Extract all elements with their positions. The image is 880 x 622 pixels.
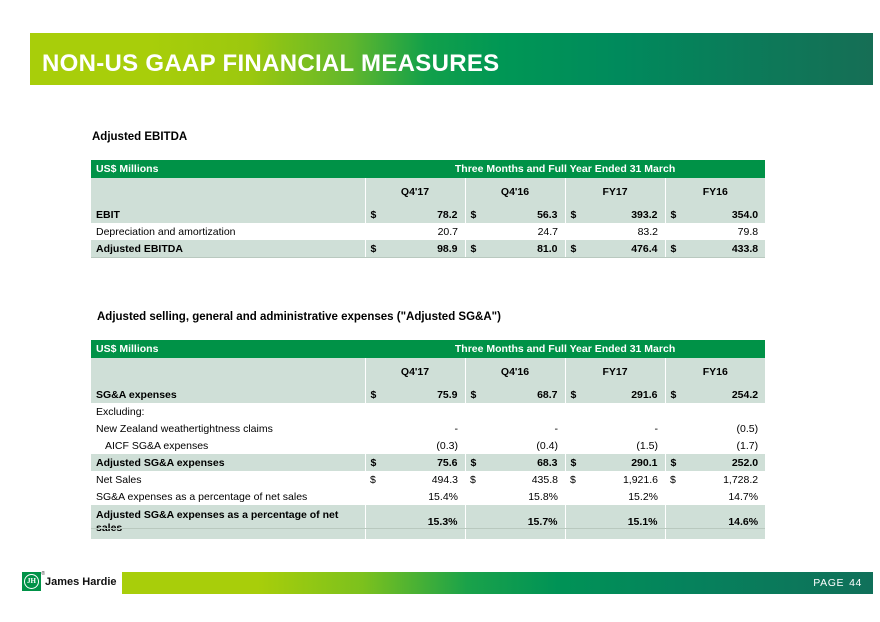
row-label: AICF SG&A expenses bbox=[91, 437, 365, 454]
row-value: - bbox=[591, 420, 665, 437]
row-currency: $ bbox=[465, 240, 491, 257]
brand-logo: JH ® James Hardie bbox=[22, 572, 117, 591]
row-value: 81.0 bbox=[491, 240, 565, 257]
row-value: 15.4% bbox=[391, 488, 465, 505]
row-value: 56.3 bbox=[491, 206, 565, 223]
table-row: Adjusted SG&A expenses $ 75.6 $ 68.3 $ 2… bbox=[91, 454, 765, 471]
row-value: 20.7 bbox=[391, 223, 465, 240]
row-value: 14.6% bbox=[665, 505, 765, 539]
row-label: SG&A expenses bbox=[91, 386, 365, 403]
page-title: NON-US GAAP FINANCIAL MEASURES bbox=[42, 50, 499, 78]
table-row: Depreciation and amortization 20.7 24.7 … bbox=[91, 223, 765, 240]
column-header-fy17: FY17 bbox=[565, 358, 665, 386]
row-currency bbox=[465, 403, 491, 420]
row-value: 15.2% bbox=[591, 488, 665, 505]
row-value bbox=[591, 403, 665, 420]
row-value: - bbox=[491, 420, 565, 437]
table-row: Adjusted SG&A expenses as a percentage o… bbox=[91, 505, 765, 539]
row-currency: $ bbox=[565, 454, 591, 471]
table-header-periods: Q4'17 Q4'16 FY17 FY16 bbox=[91, 178, 765, 206]
row-currency: $ bbox=[365, 240, 391, 257]
table-row: AICF SG&A expenses (0.3) (0.4) (1.5) (1.… bbox=[91, 437, 765, 454]
row-value: 68.3 bbox=[491, 454, 565, 471]
row-value: 433.8 bbox=[691, 240, 765, 257]
row-currency: $ bbox=[465, 471, 491, 488]
row-label: New Zealand weathertightness claims bbox=[91, 420, 365, 437]
column-header-q417: Q4'17 bbox=[365, 358, 465, 386]
logo-monogram: JH bbox=[24, 574, 39, 589]
row-currency bbox=[465, 223, 491, 240]
row-value: 1,728.2 bbox=[691, 471, 765, 488]
row-value: 68.7 bbox=[491, 386, 565, 403]
table-header-periods: Q4'17 Q4'16 FY17 FY16 bbox=[91, 358, 765, 386]
row-currency: $ bbox=[465, 386, 491, 403]
row-label: EBIT bbox=[91, 206, 365, 223]
row-currency: $ bbox=[665, 206, 691, 223]
row-label: Adjusted EBITDA bbox=[91, 240, 365, 257]
row-currency bbox=[665, 420, 691, 437]
row-value: - bbox=[391, 420, 465, 437]
row-value: 15.8% bbox=[491, 488, 565, 505]
footer-bar bbox=[122, 572, 873, 594]
row-value: 75.9 bbox=[391, 386, 465, 403]
column-header-q416: Q4'16 bbox=[465, 178, 565, 206]
row-label: Depreciation and amortization bbox=[91, 223, 365, 240]
header-period-title: Three Months and Full Year Ended 31 Marc… bbox=[365, 340, 765, 358]
row-currency: $ bbox=[365, 454, 391, 471]
row-currency bbox=[465, 420, 491, 437]
column-header-q417: Q4'17 bbox=[365, 178, 465, 206]
header-units: US$ Millions bbox=[91, 340, 365, 358]
row-currency bbox=[365, 223, 391, 240]
row-value: (0.5) bbox=[691, 420, 765, 437]
header-units: US$ Millions bbox=[91, 160, 365, 178]
row-value: 14.7% bbox=[691, 488, 765, 505]
row-currency: $ bbox=[565, 206, 591, 223]
row-currency bbox=[365, 437, 391, 454]
row-value: 78.2 bbox=[391, 206, 465, 223]
row-value: 393.2 bbox=[591, 206, 665, 223]
row-currency: $ bbox=[365, 471, 391, 488]
table-bottom-rule bbox=[91, 257, 765, 258]
row-currency: $ bbox=[465, 206, 491, 223]
row-currency bbox=[365, 403, 391, 420]
section-caption-ebitda: Adjusted EBITDA bbox=[92, 131, 187, 143]
row-value: 476.4 bbox=[591, 240, 665, 257]
row-value: 15.7% bbox=[465, 505, 565, 539]
column-header-fy16: FY16 bbox=[665, 358, 765, 386]
row-currency: $ bbox=[665, 240, 691, 257]
row-currency bbox=[665, 223, 691, 240]
table-header-band: US$ Millions Three Months and Full Year … bbox=[91, 160, 765, 178]
row-value: 354.0 bbox=[691, 206, 765, 223]
row-value: 75.6 bbox=[391, 454, 465, 471]
page-number: 44 bbox=[849, 577, 862, 589]
row-value: 15.3% bbox=[365, 505, 465, 539]
row-currency bbox=[565, 223, 591, 240]
row-currency bbox=[465, 437, 491, 454]
row-value bbox=[491, 403, 565, 420]
row-currency bbox=[465, 488, 491, 505]
row-value: 1,921.6 bbox=[591, 471, 665, 488]
header-spacer bbox=[91, 358, 365, 386]
row-currency bbox=[565, 437, 591, 454]
row-currency bbox=[565, 488, 591, 505]
row-value: (0.3) bbox=[391, 437, 465, 454]
row-value bbox=[391, 403, 465, 420]
row-currency: $ bbox=[365, 386, 391, 403]
table-row: EBIT $ 78.2 $ 56.3 $ 393.2 $ 354.0 bbox=[91, 206, 765, 223]
row-currency bbox=[565, 403, 591, 420]
brand-name: James Hardie bbox=[45, 576, 117, 588]
row-value bbox=[691, 403, 765, 420]
row-label: Adjusted SG&A expenses as a percentage o… bbox=[91, 505, 365, 539]
table-adjusted-sga: US$ Millions Three Months and Full Year … bbox=[91, 340, 765, 539]
table-row: Adjusted EBITDA $ 98.9 $ 81.0 $ 476.4 $ … bbox=[91, 240, 765, 257]
row-value: 252.0 bbox=[691, 454, 765, 471]
row-currency bbox=[665, 403, 691, 420]
row-currency bbox=[565, 420, 591, 437]
row-label: SG&A expenses as a percentage of net sal… bbox=[91, 488, 365, 505]
table-adjusted-ebitda: US$ Millions Three Months and Full Year … bbox=[91, 160, 765, 257]
row-label: Adjusted SG&A expenses bbox=[91, 454, 365, 471]
row-currency: $ bbox=[665, 471, 691, 488]
table-row: Net Sales $ 494.3 $ 435.8 $ 1,921.6 $ 1,… bbox=[91, 471, 765, 488]
row-value: 290.1 bbox=[591, 454, 665, 471]
row-value: 291.6 bbox=[591, 386, 665, 403]
row-currency: $ bbox=[665, 454, 691, 471]
row-currency: $ bbox=[465, 454, 491, 471]
row-value: 83.2 bbox=[591, 223, 665, 240]
row-value: (1.5) bbox=[591, 437, 665, 454]
column-header-q416: Q4'16 bbox=[465, 358, 565, 386]
row-value: 494.3 bbox=[391, 471, 465, 488]
table-row: SG&A expenses $ 75.9 $ 68.7 $ 291.6 $ 25… bbox=[91, 386, 765, 403]
row-currency bbox=[665, 488, 691, 505]
row-currency: $ bbox=[665, 386, 691, 403]
row-value: 254.2 bbox=[691, 386, 765, 403]
table-row: SG&A expenses as a percentage of net sal… bbox=[91, 488, 765, 505]
row-value: (0.4) bbox=[491, 437, 565, 454]
column-header-fy16: FY16 bbox=[665, 178, 765, 206]
james-hardie-logo-icon: JH ® bbox=[22, 572, 41, 591]
registered-trademark-icon: ® bbox=[41, 571, 45, 577]
row-currency bbox=[665, 437, 691, 454]
row-currency bbox=[365, 488, 391, 505]
section-caption-sga: Adjusted selling, general and administra… bbox=[97, 311, 501, 323]
row-currency: $ bbox=[565, 386, 591, 403]
row-currency: $ bbox=[565, 240, 591, 257]
row-currency: $ bbox=[565, 471, 591, 488]
page-number-label: PAGE44 bbox=[813, 577, 862, 589]
header-period-title: Three Months and Full Year Ended 31 Marc… bbox=[365, 160, 765, 178]
table-row: Excluding: bbox=[91, 403, 765, 420]
row-currency: $ bbox=[365, 206, 391, 223]
page-word: PAGE bbox=[813, 577, 844, 589]
table-bottom-rule bbox=[91, 528, 765, 529]
row-value: 24.7 bbox=[491, 223, 565, 240]
row-value: (1.7) bbox=[691, 437, 765, 454]
table-row: New Zealand weathertightness claims - - … bbox=[91, 420, 765, 437]
row-value: 98.9 bbox=[391, 240, 465, 257]
row-label: Excluding: bbox=[91, 403, 365, 420]
table-header-band: US$ Millions Three Months and Full Year … bbox=[91, 340, 765, 358]
row-value: 15.1% bbox=[565, 505, 665, 539]
row-value: 435.8 bbox=[491, 471, 565, 488]
column-header-fy17: FY17 bbox=[565, 178, 665, 206]
row-currency bbox=[365, 420, 391, 437]
row-value: 79.8 bbox=[691, 223, 765, 240]
row-label: Net Sales bbox=[91, 471, 365, 488]
header-spacer bbox=[91, 178, 365, 206]
